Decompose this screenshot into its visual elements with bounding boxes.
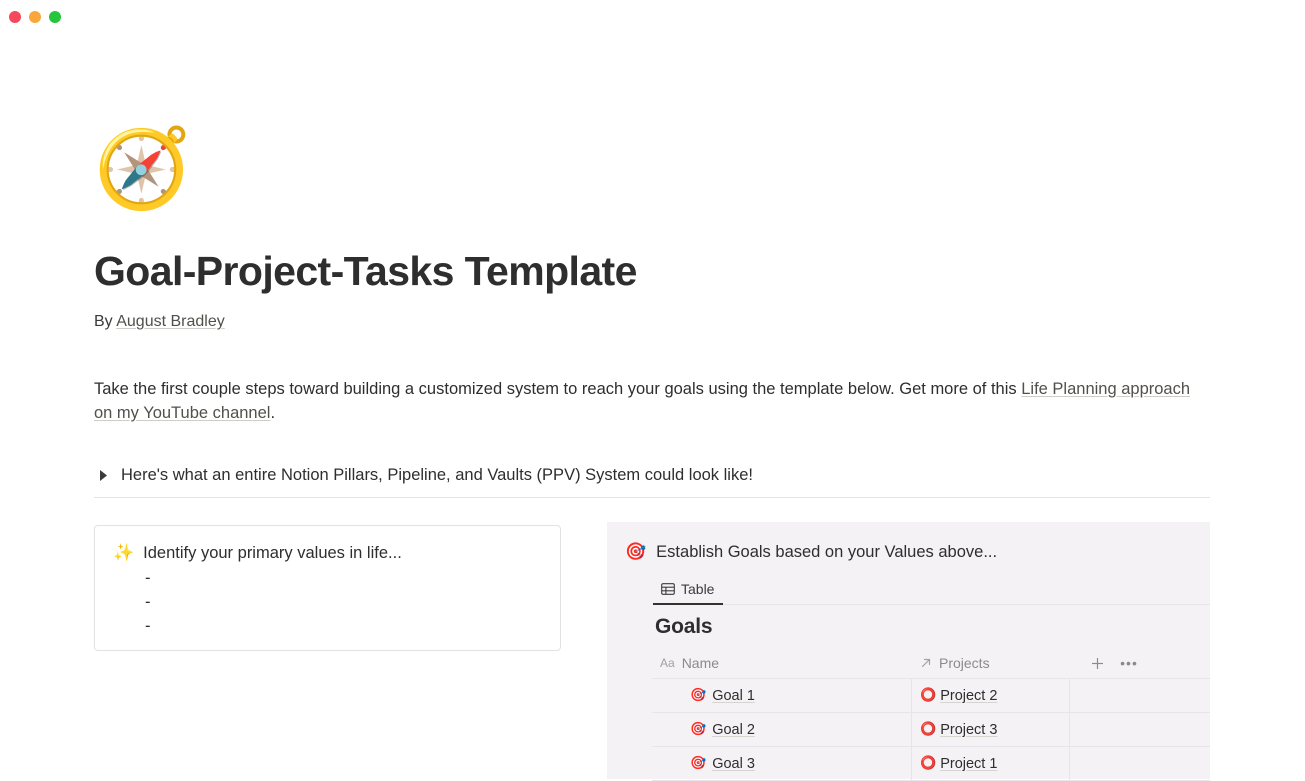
goals-panel: 🎯 Establish Goals based on your Values a…	[607, 522, 1210, 779]
relation-arrow-icon	[920, 657, 932, 669]
cell-extra[interactable]	[1070, 679, 1210, 712]
column-header-name[interactable]: Aa Name	[652, 655, 912, 671]
table-options-button[interactable]: •••	[1118, 652, 1140, 674]
callout-line[interactable]: -	[145, 590, 544, 614]
goals-panel-header: 🎯 Establish Goals based on your Values a…	[625, 541, 997, 563]
chevron-right-icon[interactable]	[96, 463, 110, 487]
dart-target-icon: 🎯	[690, 723, 706, 736]
cell-extra[interactable]	[1070, 713, 1210, 746]
table-row[interactable]: 🎯 Goal 1 ⭕ Project 2	[652, 679, 1210, 713]
toggle-label: Here's what an entire Notion Pillars, Pi…	[121, 463, 753, 487]
dart-target-icon: 🎯	[690, 757, 706, 770]
project-relation-chip[interactable]: ⭕ Project 1	[920, 756, 997, 772]
byline: By August Bradley	[94, 313, 225, 331]
goal-name-link[interactable]: Goal 1	[712, 688, 755, 704]
goals-panel-title: Establish Goals based on your Values abo…	[656, 541, 997, 563]
table-row[interactable]: 🎯 Goal 3 ⭕ Project 1	[652, 747, 1210, 781]
goal-name-link[interactable]: Goal 3	[712, 756, 755, 772]
cell-projects[interactable]: ⭕ Project 3	[912, 713, 1070, 746]
red-circle-icon: ⭕	[920, 757, 936, 770]
goal-name-link[interactable]: Goal 2	[712, 722, 755, 738]
byline-prefix: By	[94, 313, 116, 330]
tab-table-label: Table	[681, 581, 714, 597]
red-circle-icon: ⭕	[920, 689, 936, 702]
project-relation-chip[interactable]: ⭕ Project 3	[920, 722, 997, 738]
tab-table[interactable]: Table	[653, 574, 723, 605]
cell-projects[interactable]: ⭕ Project 2	[912, 679, 1070, 712]
intro-text-after: .	[270, 404, 275, 422]
goals-table: Aa Name Projects	[652, 648, 1210, 781]
table-row[interactable]: 🎯 Goal 2 ⭕ Project 3	[652, 713, 1210, 747]
project-name-link[interactable]: Project 2	[940, 688, 997, 704]
table-header-row: Aa Name Projects	[652, 648, 1210, 679]
add-column-button[interactable]	[1086, 652, 1108, 674]
table-header-actions: •••	[1070, 652, 1210, 674]
page-title[interactable]: Goal-Project-Tasks Template	[94, 248, 637, 295]
page-content: 🧭 Goal-Project-Tasks Template By August …	[0, 0, 1305, 779]
project-name-link[interactable]: Project 3	[940, 722, 997, 738]
project-relation-chip[interactable]: ⭕ Project 2	[920, 688, 997, 704]
column-header-name-label: Name	[682, 655, 719, 671]
column-header-projects-label: Projects	[939, 655, 990, 671]
cell-extra[interactable]	[1070, 747, 1210, 780]
dart-target-icon: 🎯	[625, 541, 646, 563]
database-view-tabs: Table	[653, 574, 1210, 605]
cell-name[interactable]: 🎯 Goal 3	[652, 747, 912, 780]
database-title[interactable]: Goals	[655, 615, 712, 639]
section-divider	[94, 497, 1210, 498]
page-icon[interactable]: 🧭	[94, 128, 176, 210]
dart-target-icon: 🎯	[690, 689, 706, 702]
sparkles-icon: ✨	[113, 542, 134, 564]
values-callout[interactable]: ✨ Identify your primary values in life..…	[94, 525, 561, 651]
intro-text-before: Take the first couple steps toward build…	[94, 380, 1021, 398]
toggle-block[interactable]: Here's what an entire Notion Pillars, Pi…	[96, 463, 753, 487]
callout-lines: - - -	[113, 566, 544, 638]
callout-title: Identify your primary values in life...	[143, 542, 402, 564]
intro-paragraph: Take the first couple steps toward build…	[94, 377, 1210, 425]
project-name-link[interactable]: Project 1	[940, 756, 997, 772]
red-circle-icon: ⭕	[920, 723, 936, 736]
text-type-icon: Aa	[660, 656, 675, 670]
cell-projects[interactable]: ⭕ Project 1	[912, 747, 1070, 780]
cell-name[interactable]: 🎯 Goal 2	[652, 713, 912, 746]
table-icon	[661, 582, 675, 596]
byline-author-link[interactable]: August Bradley	[116, 313, 225, 330]
callout-line[interactable]: -	[145, 566, 544, 590]
callout-header: ✨ Identify your primary values in life..…	[113, 542, 544, 564]
column-header-projects[interactable]: Projects	[912, 655, 1070, 671]
callout-line[interactable]: -	[145, 614, 544, 638]
cell-name[interactable]: 🎯 Goal 1	[652, 679, 912, 712]
